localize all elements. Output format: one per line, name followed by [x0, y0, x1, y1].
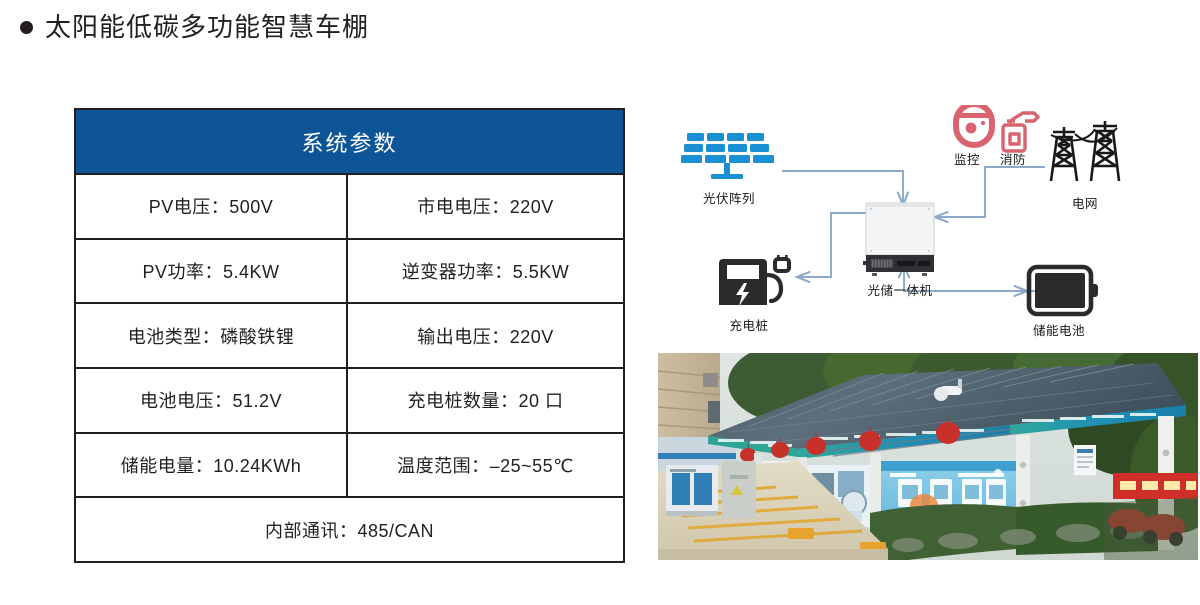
- diagram-label-firefighting: 消防: [993, 149, 1033, 168]
- table-header-label: 系统参数: [301, 126, 397, 158]
- table-header: 系统参数: [76, 110, 623, 175]
- system-architecture-diagram: 光伏阵列 监控 消防 电网 光储一体机 充电桩 储能电池: [655, 105, 1200, 345]
- photo-canvas: [658, 353, 1198, 560]
- spec-cell-grid-voltage: 市电电压：220V: [348, 175, 623, 238]
- photo-right-scene: [1104, 473, 1198, 560]
- spec-cell-battery-type: 电池类型：磷酸铁锂: [76, 304, 348, 367]
- table-row: 电池电压：51.2V 充电桩数量：20 口: [76, 369, 623, 434]
- diagram-label-storage-battery: 储能电池: [1023, 320, 1095, 339]
- table-row: PV功率：5.4KW 逆变器功率：5.5KW: [76, 240, 623, 305]
- spec-cell-pv-voltage: PV电压：500V: [76, 175, 348, 238]
- spec-cell-temp-range: 温度范围：–25~55℃: [348, 434, 623, 497]
- ev-charging-pile-icon: [719, 255, 789, 306]
- spec-cell-charger-count: 充电桩数量：20 口: [348, 369, 623, 432]
- spec-cell-internal-comms: 内部通讯：485/CAN: [76, 498, 623, 561]
- solar-carport-photo: [658, 353, 1198, 560]
- page-title-text: 太阳能低碳多功能智慧车棚: [45, 14, 369, 40]
- spec-cell-storage-capacity: 储能电量：10.24KWh: [76, 434, 348, 497]
- slide-root: 太阳能低碳多功能智慧车棚 系统参数 PV电压：500V 市电电压：220V PV…: [0, 0, 1200, 605]
- diagram-label-pv-array: 光伏阵列: [695, 188, 763, 207]
- system-parameters-table: 系统参数 PV电压：500V 市电电压：220V PV功率：5.4KW 逆变器功…: [74, 108, 625, 563]
- spec-cell-output-voltage: 输出电压：220V: [348, 304, 623, 367]
- fire-extinguisher-icon: [1003, 113, 1038, 151]
- spec-cell-battery-voltage: 电池电压：51.2V: [76, 369, 348, 432]
- table-row: PV电压：500V 市电电压：220V: [76, 175, 623, 240]
- diagram-label-power-grid: 电网: [1064, 193, 1106, 212]
- spec-cell-inverter-power: 逆变器功率：5.5KW: [348, 240, 623, 303]
- dome-camera-icon: [956, 105, 992, 145]
- battery-storage-icon: [1029, 267, 1098, 314]
- diagram-label-pv-storage-unit: 光储一体机: [858, 280, 942, 299]
- page-title: 太阳能低碳多功能智慧车棚: [20, 14, 369, 40]
- pv-storage-cabinet-icon: [863, 203, 934, 276]
- photo-equipment-cabinets: [666, 461, 756, 519]
- table-row: 电池类型：磷酸铁锂 输出电压：220V: [76, 304, 623, 369]
- diagram-label-charging-pile: 充电桩: [721, 315, 777, 334]
- bullet-dot-icon: [20, 21, 33, 34]
- diagram-canvas: [655, 105, 1200, 345]
- table-row: 储能电量：10.24KWh 温度范围：–25~55℃: [76, 434, 623, 499]
- diagram-label-monitoring: 监控: [947, 149, 987, 168]
- power-grid-tower-icon: [1051, 121, 1119, 181]
- solar-panel-icon: [681, 133, 774, 179]
- table-row: 内部通讯：485/CAN: [76, 498, 623, 561]
- spec-cell-pv-power: PV功率：5.4KW: [76, 240, 348, 303]
